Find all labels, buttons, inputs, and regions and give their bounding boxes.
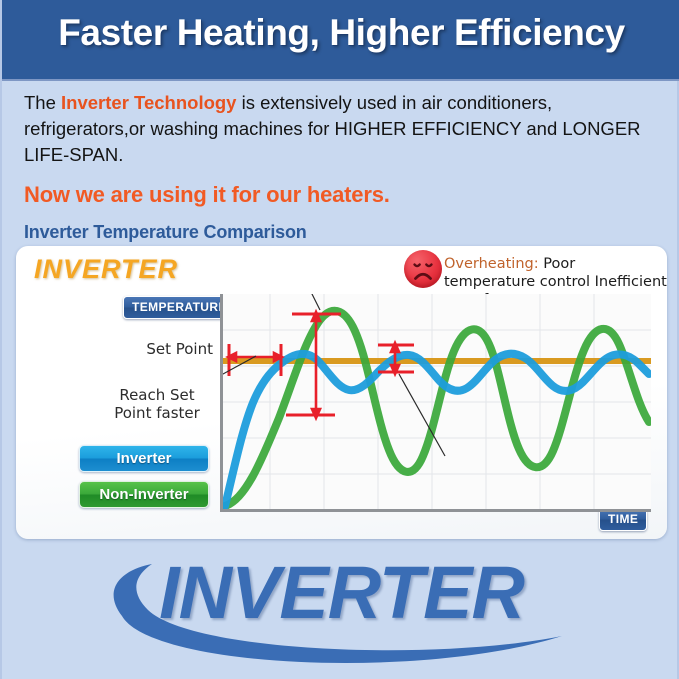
series-inverter: [225, 354, 649, 506]
marker-reach-set-point: [229, 344, 281, 376]
reach-set-point-label: Reach Set Point faster: [101, 386, 213, 422]
sad-face-icon: [404, 250, 442, 288]
infographic-page: Faster Heating, Higher Efficiency The In…: [0, 0, 679, 679]
marker-minimal-amplitude: [378, 345, 414, 372]
chart-plot-area: [220, 294, 651, 512]
chart-subhead: Inverter Temperature Comparison: [24, 222, 307, 243]
marker-overheating-amplitude: [286, 314, 341, 415]
set-point-label: Set Point: [113, 340, 213, 358]
intro-highlight: Inverter Technology: [61, 92, 236, 113]
tagline: Now we are using it for our heaters.: [24, 182, 390, 208]
reach-line-2: Point faster: [101, 404, 213, 422]
chart-card: INVERTER TEMPERATURE TIME Set Point Reac…: [16, 246, 667, 539]
marker-reach-arrow: [228, 353, 282, 361]
marker-overheating-arrow: [312, 312, 320, 418]
chart-svg: [223, 294, 651, 509]
card-brand-label: INVERTER: [34, 254, 178, 285]
series-non-inverter: [225, 311, 649, 506]
annotation-overheating-key: Overheating:: [444, 256, 539, 272]
legend-item-non-inverter[interactable]: Non-Inverter: [79, 481, 209, 508]
sad-face-glyph: [404, 250, 442, 288]
leader-lines: [223, 294, 445, 456]
logo-wordmark: INVERTER: [2, 550, 679, 635]
marker-minimal-arrow: [391, 343, 399, 374]
intro-lead: The: [24, 92, 61, 113]
legend-item-inverter[interactable]: Inverter: [79, 445, 209, 472]
axis-badge-temperature: TEMPERATURE: [123, 296, 236, 319]
grid-lines: [223, 294, 651, 509]
intro-paragraph: The Inverter Technology is extensively u…: [24, 90, 664, 168]
page-title: Faster Heating, Higher Efficiency: [2, 12, 679, 54]
footer-logo: INVERTER: [2, 540, 679, 679]
header-banner: Faster Heating, Higher Efficiency: [2, 0, 679, 81]
reach-line-1: Reach Set: [101, 386, 213, 404]
